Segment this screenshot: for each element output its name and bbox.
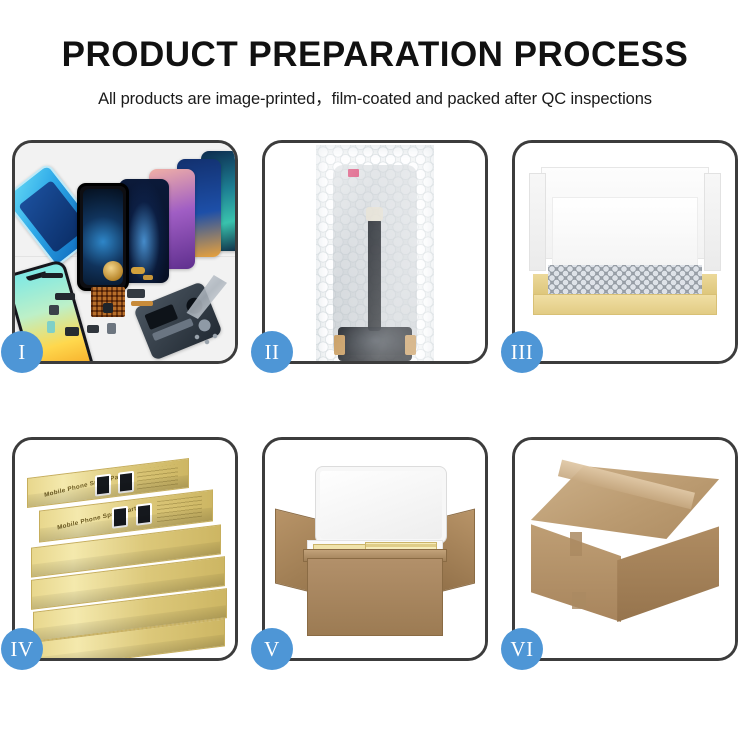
header: PRODUCT PREPARATION PROCESS All products…: [0, 0, 750, 109]
step-image-6: [515, 440, 735, 658]
part-icon: [131, 301, 153, 306]
foam-sheet: [552, 197, 698, 268]
flex-cable-icon: [368, 219, 381, 331]
copper-coil-icon: [103, 261, 123, 281]
tape-tab-icon: [405, 335, 416, 355]
page-title: PRODUCT PREPARATION PROCESS: [0, 36, 750, 75]
step-panel-6[interactable]: VI: [512, 437, 738, 661]
bubble-wrap-bag-icon: [316, 145, 434, 361]
part-icon: [65, 327, 79, 336]
step-badge-1: I: [1, 331, 43, 373]
kraft-front-panel: [533, 294, 717, 315]
part-icon: [127, 289, 145, 298]
open-carton-icon: [275, 462, 475, 640]
pink-label-icon: [348, 169, 359, 177]
part-icon: [143, 275, 153, 280]
step-panel-5[interactable]: V: [262, 437, 488, 661]
step-panel-2[interactable]: II: [262, 140, 488, 364]
part-icon: [55, 293, 75, 300]
part-icon: [131, 267, 145, 274]
step-image-4: Mobile Phone Spare Parts Mobile Phone Sp…: [15, 440, 235, 658]
step-badge-6: VI: [501, 628, 543, 670]
step-image-2: [265, 143, 485, 361]
part-icon: [41, 273, 63, 278]
speaker-icon: [197, 318, 213, 334]
open-kraft-box-icon: [529, 167, 721, 315]
steps-grid: I II: [12, 140, 738, 685]
tape-patch-icon: [570, 532, 582, 555]
step-panel-1[interactable]: I: [12, 140, 238, 364]
part-icon: [47, 321, 55, 333]
sealed-carton-icon: [527, 466, 723, 632]
step-panel-3[interactable]: III: [512, 140, 738, 364]
screws-icon: [193, 333, 219, 347]
step-panel-4[interactable]: Mobile Phone Spare Parts Mobile Phone Sp…: [12, 437, 238, 661]
tape-tab-icon: [334, 335, 345, 355]
step-badge-4: IV: [1, 628, 43, 670]
gold-box-stack-icon: Mobile Phone Spare Parts Mobile Phone Sp…: [21, 458, 231, 652]
foam-flap-left: [529, 173, 546, 271]
part-icon: [107, 323, 116, 334]
step-image-3: [515, 143, 735, 361]
step-badge-3: III: [501, 331, 543, 373]
step-badge-2: II: [251, 331, 293, 373]
foam-lid: [315, 466, 447, 544]
step-image-5: [265, 440, 485, 658]
tape-patch-icon: [572, 592, 586, 609]
step-image-1: [15, 143, 235, 361]
part-icon: [49, 305, 59, 315]
connector-assembly-icon: [338, 327, 412, 361]
page-subtitle: All products are image-printed，film-coat…: [0, 85, 750, 109]
carton-body: [307, 558, 443, 636]
part-icon: [103, 303, 113, 313]
carton-right-face: [617, 522, 719, 622]
step-badge-5: V: [251, 628, 293, 670]
part-icon: [87, 325, 99, 333]
product-preparation-infographic: PRODUCT PREPARATION PROCESS All products…: [0, 0, 750, 750]
bubble-wrap-layer: [548, 265, 702, 295]
foam-flap-right: [704, 173, 721, 271]
